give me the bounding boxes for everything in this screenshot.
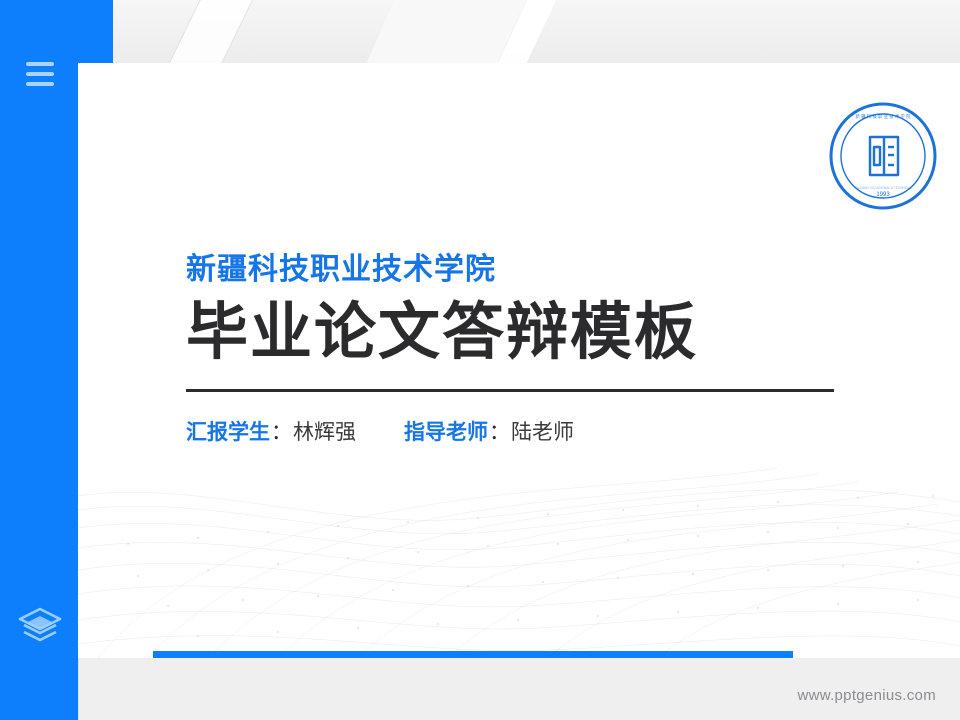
top-decorative-band (0, 0, 960, 64)
footer-watermark: www.pptgenius.com (798, 687, 937, 704)
presentation-slide-viewer: 新 疆 科 技 职 业 技 术 学 院 1993 XINJIANG VOCATI… (0, 0, 960, 720)
presenter-separator: ： (271, 420, 292, 445)
presenter-field: 汇报学生 ： 林辉强 (186, 420, 356, 445)
presenter-name: 林辉强 (293, 420, 356, 445)
advisor-field: 指导老师 ： 陆老师 (404, 420, 574, 445)
swoosh-decoration (125, 0, 272, 64)
hamburger-bar (26, 82, 54, 86)
hamburger-bar (26, 62, 54, 66)
hamburger-bar (26, 72, 54, 76)
advisor-name: 陆老师 (511, 420, 574, 445)
layers-stack-icon[interactable] (16, 603, 64, 647)
svg-text:新 疆 科 技 职 业 技 术 学 院: 新 疆 科 技 职 业 技 术 学 院 (856, 113, 911, 120)
meta-row: 汇报学生 ： 林辉强 指导老师 ： 陆老师 (186, 420, 886, 445)
title-divider (186, 389, 834, 392)
school-name: 新疆科技职业技术学院 (186, 253, 886, 286)
seal-year: 1993 (876, 192, 890, 198)
slide-canvas: 新 疆 科 技 职 业 技 术 学 院 1993 XINJIANG VOCATI… (78, 63, 960, 658)
advisor-label: 指导老师 (404, 420, 488, 445)
slide-bottom-accent-bar (153, 651, 793, 658)
slide-text-block: 新疆科技职业技术学院 毕业论文答辩模板 汇报学生 ： 林辉强 指导老师 ： 陆老… (186, 253, 886, 445)
presenter-label: 汇报学生 (186, 420, 270, 445)
svg-text:XINJIANG VOCATIONAL & TECHNICA: XINJIANG VOCATIONAL & TECHNICAL (854, 186, 912, 190)
mesh-wave-decoration (78, 448, 960, 658)
advisor-separator: ： (489, 420, 510, 445)
page-title: 毕业论文答辩模板 (186, 300, 886, 367)
hamburger-menu-icon[interactable] (26, 62, 54, 86)
university-seal-logo: 新 疆 科 技 职 业 技 术 学 院 1993 XINJIANG VOCATI… (828, 101, 938, 211)
